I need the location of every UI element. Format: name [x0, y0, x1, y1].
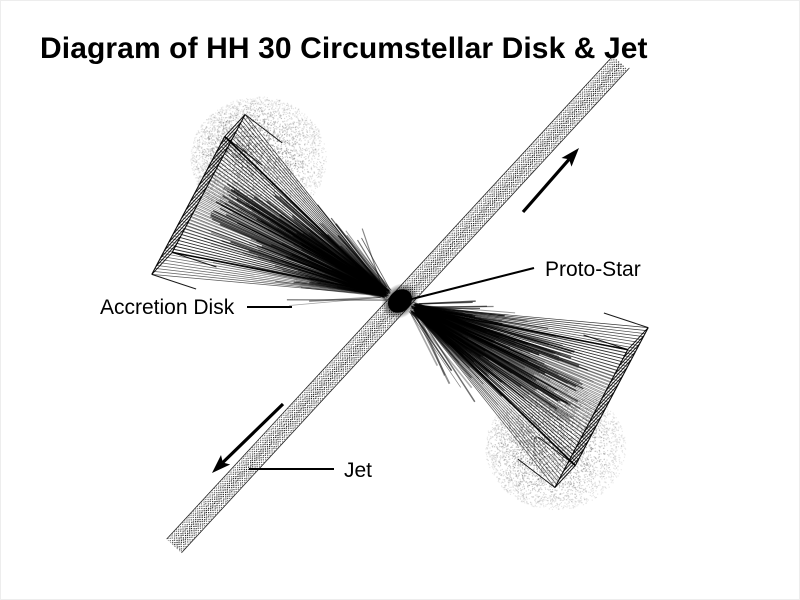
label-proto-star: Proto-Star [545, 258, 641, 281]
hh30-diagram-figure: Diagram of HH 30 Circumstellar Disk & Je… [0, 0, 800, 600]
page-title: Diagram of HH 30 Circumstellar Disk & Je… [40, 32, 648, 65]
label-jet: Jet [344, 459, 372, 482]
label-accretion-disk: Accretion Disk [100, 296, 235, 319]
diagram-page: Diagram of HH 30 Circumstellar Disk & Je… [0, 0, 800, 600]
